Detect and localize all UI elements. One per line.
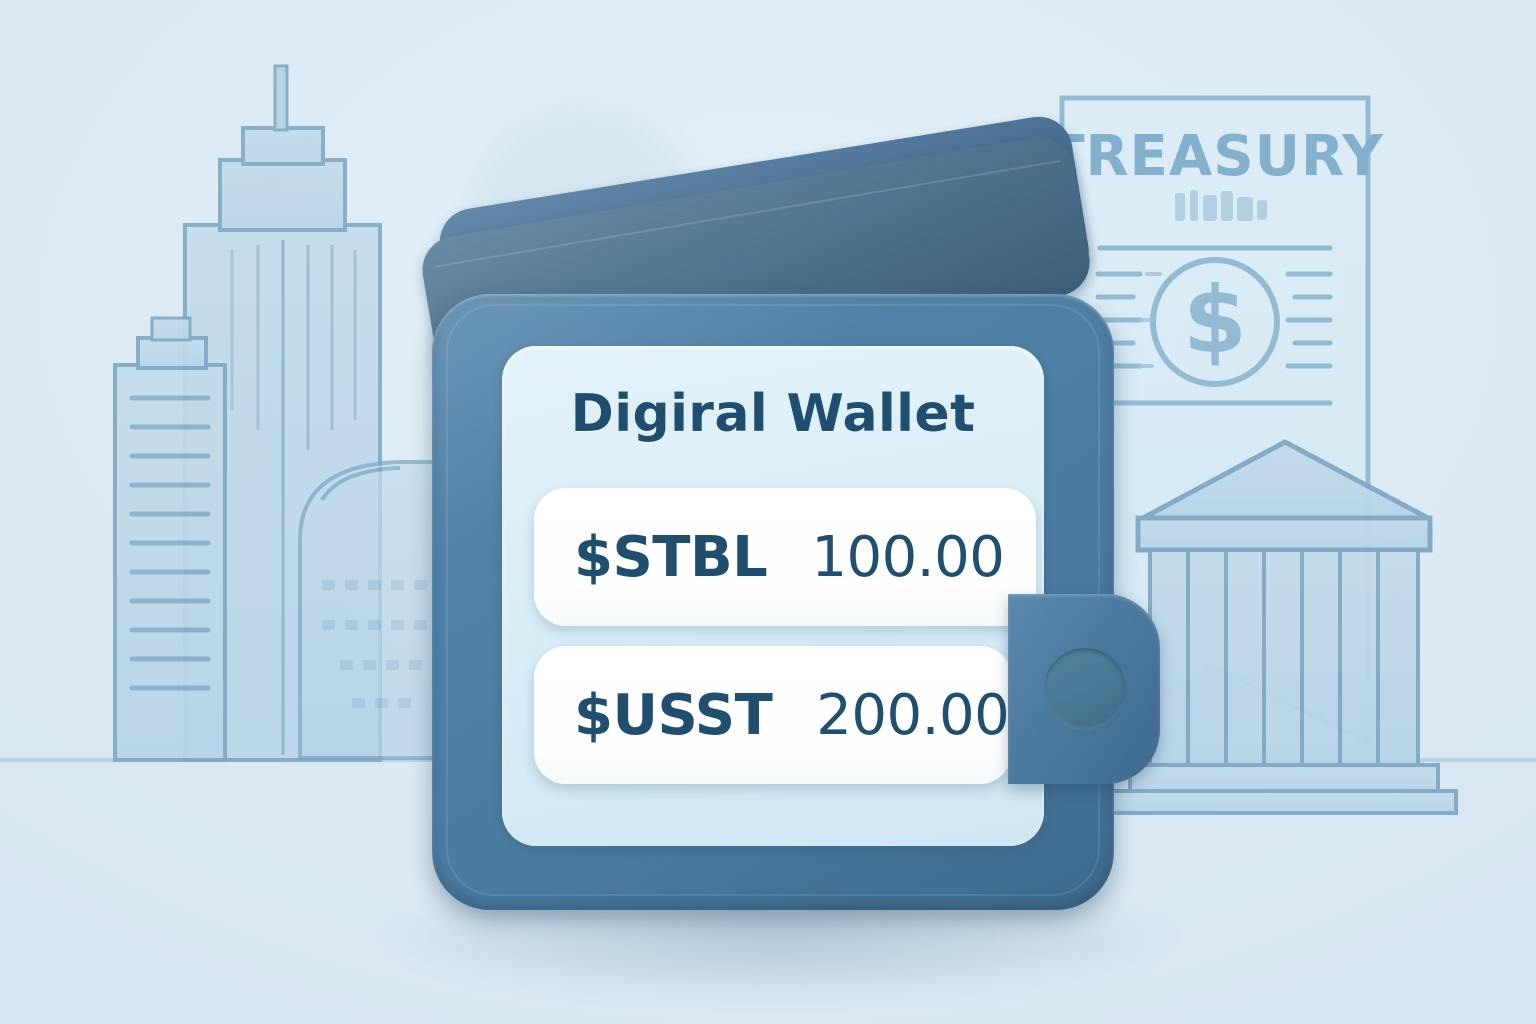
token-amount: 100.00 (811, 525, 1004, 590)
svg-text:$: $ (1183, 267, 1247, 374)
wallet-title: Digiral Wallet (502, 384, 1044, 444)
token-symbol: $STBL (574, 525, 767, 590)
wallet-inner-panel: Digiral Wallet $STBL 100.00 $USST 200.00 (502, 346, 1044, 846)
svg-text:TREASURY: TREASURY (1046, 124, 1384, 189)
digital-wallet[interactable]: Digiral Wallet $STBL 100.00 $USST 200.00 (424, 186, 1164, 926)
wallet-clasp[interactable] (1008, 594, 1160, 784)
clasp-button-icon[interactable] (1044, 648, 1126, 730)
token-symbol: $USST (574, 683, 772, 748)
token-row[interactable]: $STBL 100.00 (534, 488, 1036, 626)
left-tower-icon (115, 318, 225, 760)
token-amount: 200.00 (816, 683, 1009, 748)
wallet-body[interactable]: Digiral Wallet $STBL 100.00 $USST 200.00 (432, 294, 1114, 910)
token-row[interactable]: $USST 200.00 (534, 646, 1012, 784)
illustration-scene: TREASURY $ (0, 0, 1536, 1024)
